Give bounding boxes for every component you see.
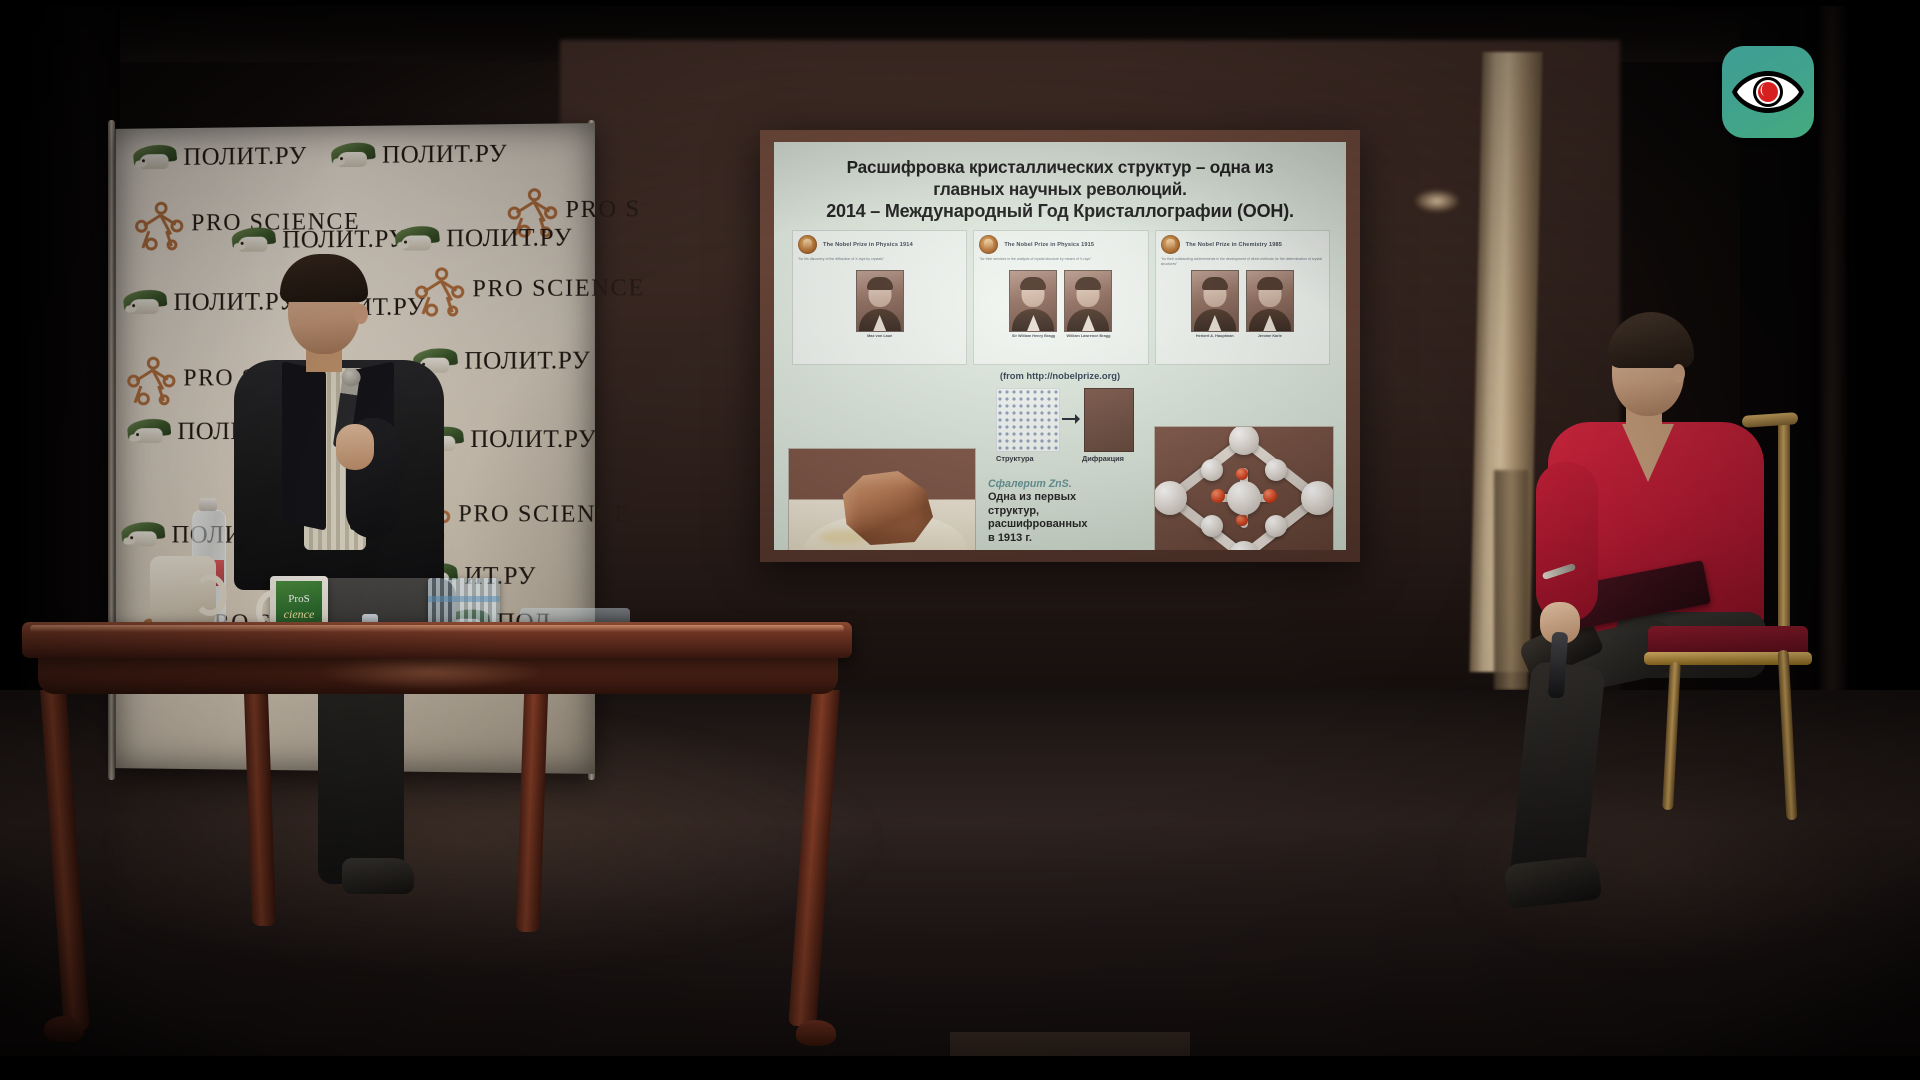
caption-line-1: Одна из первых <box>988 491 1138 505</box>
sulfur-atom <box>1236 514 1248 526</box>
laureate-portrait <box>1009 270 1057 332</box>
floor-reflection-right <box>1400 760 1920 1020</box>
presentation-slide: Расшифровка кристаллических структур – о… <box>774 142 1346 550</box>
eye-icon <box>1730 68 1806 116</box>
caption-line-4: в 1913 г. <box>988 532 1138 546</box>
nobel-prize-card: The Nobel Prize in Chemistry 1985"for th… <box>1155 230 1330 365</box>
nobel-card-motivation: "for their services in the analysis of c… <box>979 257 1142 267</box>
zinc-atom <box>1201 459 1223 481</box>
table-carving <box>300 658 560 692</box>
speaker-hand <box>336 424 374 470</box>
laureate-name: Sir William Henry Bragg <box>1009 334 1057 338</box>
crystal-lattice-icon <box>996 388 1060 452</box>
laureate-portrait <box>1191 270 1239 332</box>
bottle-cap <box>199 498 217 511</box>
right-arrow-icon <box>1060 388 1084 450</box>
nobel-card-motivation: "for their outstanding achievements in t… <box>1161 257 1324 267</box>
caption-line-3: расшифрованных <box>988 518 1138 532</box>
diffraction-pattern-image <box>1084 388 1134 452</box>
caption-heading: Сфалерит ZnS. <box>988 478 1138 490</box>
slide-title-line-3: 2014 – Международный Год Кристаллографии… <box>792 200 1328 222</box>
nobel-card-title: The Nobel Prize in Physics 1914 <box>823 242 913 248</box>
nobel-medal-icon <box>1161 235 1180 254</box>
zinc-atom <box>1301 481 1334 515</box>
speaker-shoe <box>342 858 414 894</box>
table-leg-foot <box>44 1016 84 1042</box>
nobel-prize-card: The Nobel Prize in Physics 1914"for his … <box>792 230 967 365</box>
moderator-ear <box>1672 364 1685 383</box>
moderator-hair <box>1608 312 1694 368</box>
nobel-medal-icon <box>979 235 998 254</box>
diffraction-diagram: Структура Дифракция <box>996 388 1136 463</box>
moderator-arm <box>1536 462 1598 622</box>
laureate: Herbert A. Hauptman <box>1191 270 1239 338</box>
video-frame: ПОЛИТ.РУПОЛИТ.РУPRO SCIENCEPRO SПОЛИТ.РУ… <box>0 0 1920 1080</box>
zinc-atom <box>1229 426 1259 455</box>
diagram-label-structure: Структура <box>996 454 1082 463</box>
letterbox-top <box>0 0 1920 6</box>
nobel-card-title: The Nobel Prize in Physics 1915 <box>1004 242 1094 248</box>
laureate-portrait <box>1064 270 1112 332</box>
wall-light-reflection <box>1415 190 1459 212</box>
speaker-hair <box>280 254 368 302</box>
slide-title-line-2: главных научных революций. <box>792 178 1328 200</box>
nobel-card-title: The Nobel Prize in Chemistry 1985 <box>1186 242 1282 248</box>
nobel-prize-card: The Nobel Prize in Physics 1915"for thei… <box>973 230 1148 365</box>
sulfur-atom <box>1236 468 1248 480</box>
zinc-atom <box>1265 459 1287 481</box>
sulfur-atom <box>1263 489 1277 503</box>
slide-title-line-1: Расшифровка кристаллических структур – о… <box>792 156 1328 178</box>
zinc-atom <box>1201 515 1223 537</box>
nobel-card-header: The Nobel Prize in Physics 1915 <box>979 235 1142 254</box>
table-top <box>22 622 852 658</box>
laureate-name: William Lawrence Bragg <box>1064 334 1112 338</box>
zinc-atom <box>1227 481 1261 515</box>
laureate-name: Herbert A. Hauptman <box>1191 334 1239 338</box>
laureate: Max von Laue <box>856 270 904 338</box>
crystal-model-photo <box>1154 426 1334 550</box>
nobel-card-motivation: "for his discovery of the diffraction of… <box>798 257 961 267</box>
nobel-prize-row: The Nobel Prize in Physics 1914"for his … <box>792 230 1330 365</box>
caption-line-2: структур, <box>988 505 1138 519</box>
eye-logo <box>1722 46 1814 138</box>
nobel-card-header: The Nobel Prize in Physics 1914 <box>798 235 961 254</box>
laureate: Sir William Henry Bragg <box>1009 270 1057 338</box>
nobel-card-header: The Nobel Prize in Chemistry 1985 <box>1161 235 1324 254</box>
sulfur-atom <box>1211 489 1225 503</box>
zinc-atom <box>1154 481 1187 515</box>
diagram-label-diffraction: Дифракция <box>1082 454 1124 463</box>
laureate-portrait <box>1246 270 1294 332</box>
laureate: Jerome Karle <box>1246 270 1294 338</box>
nobel-medal-icon <box>798 235 817 254</box>
sphalerite-photo <box>788 448 976 550</box>
letterbox-bottom <box>0 1056 1920 1080</box>
stage-curtain-right <box>1820 0 1846 760</box>
projection-screen: Расшифровка кристаллических структур – о… <box>760 130 1360 562</box>
zinc-atom <box>1265 515 1287 537</box>
laureate: William Lawrence Bragg <box>1064 270 1112 338</box>
mug-label-secondary: cience <box>276 607 322 622</box>
table-leg-foot <box>796 1020 836 1046</box>
slide-source-note: (from http://nobelprize.org) <box>774 370 1346 381</box>
laureate-name: Jerome Karle <box>1246 334 1294 338</box>
mug-label: ProS <box>276 593 322 605</box>
speaker-lapel-left <box>282 361 326 530</box>
slide-caption: Сфалерит ZnS. Одна из первых структур, р… <box>988 478 1138 545</box>
slide-title: Расшифровка кристаллических структур – о… <box>792 156 1328 222</box>
speaker-ear <box>354 304 368 324</box>
laureate-portrait <box>856 270 904 332</box>
moderator-person <box>1530 312 1790 742</box>
laureate-name: Max von Laue <box>856 334 904 338</box>
